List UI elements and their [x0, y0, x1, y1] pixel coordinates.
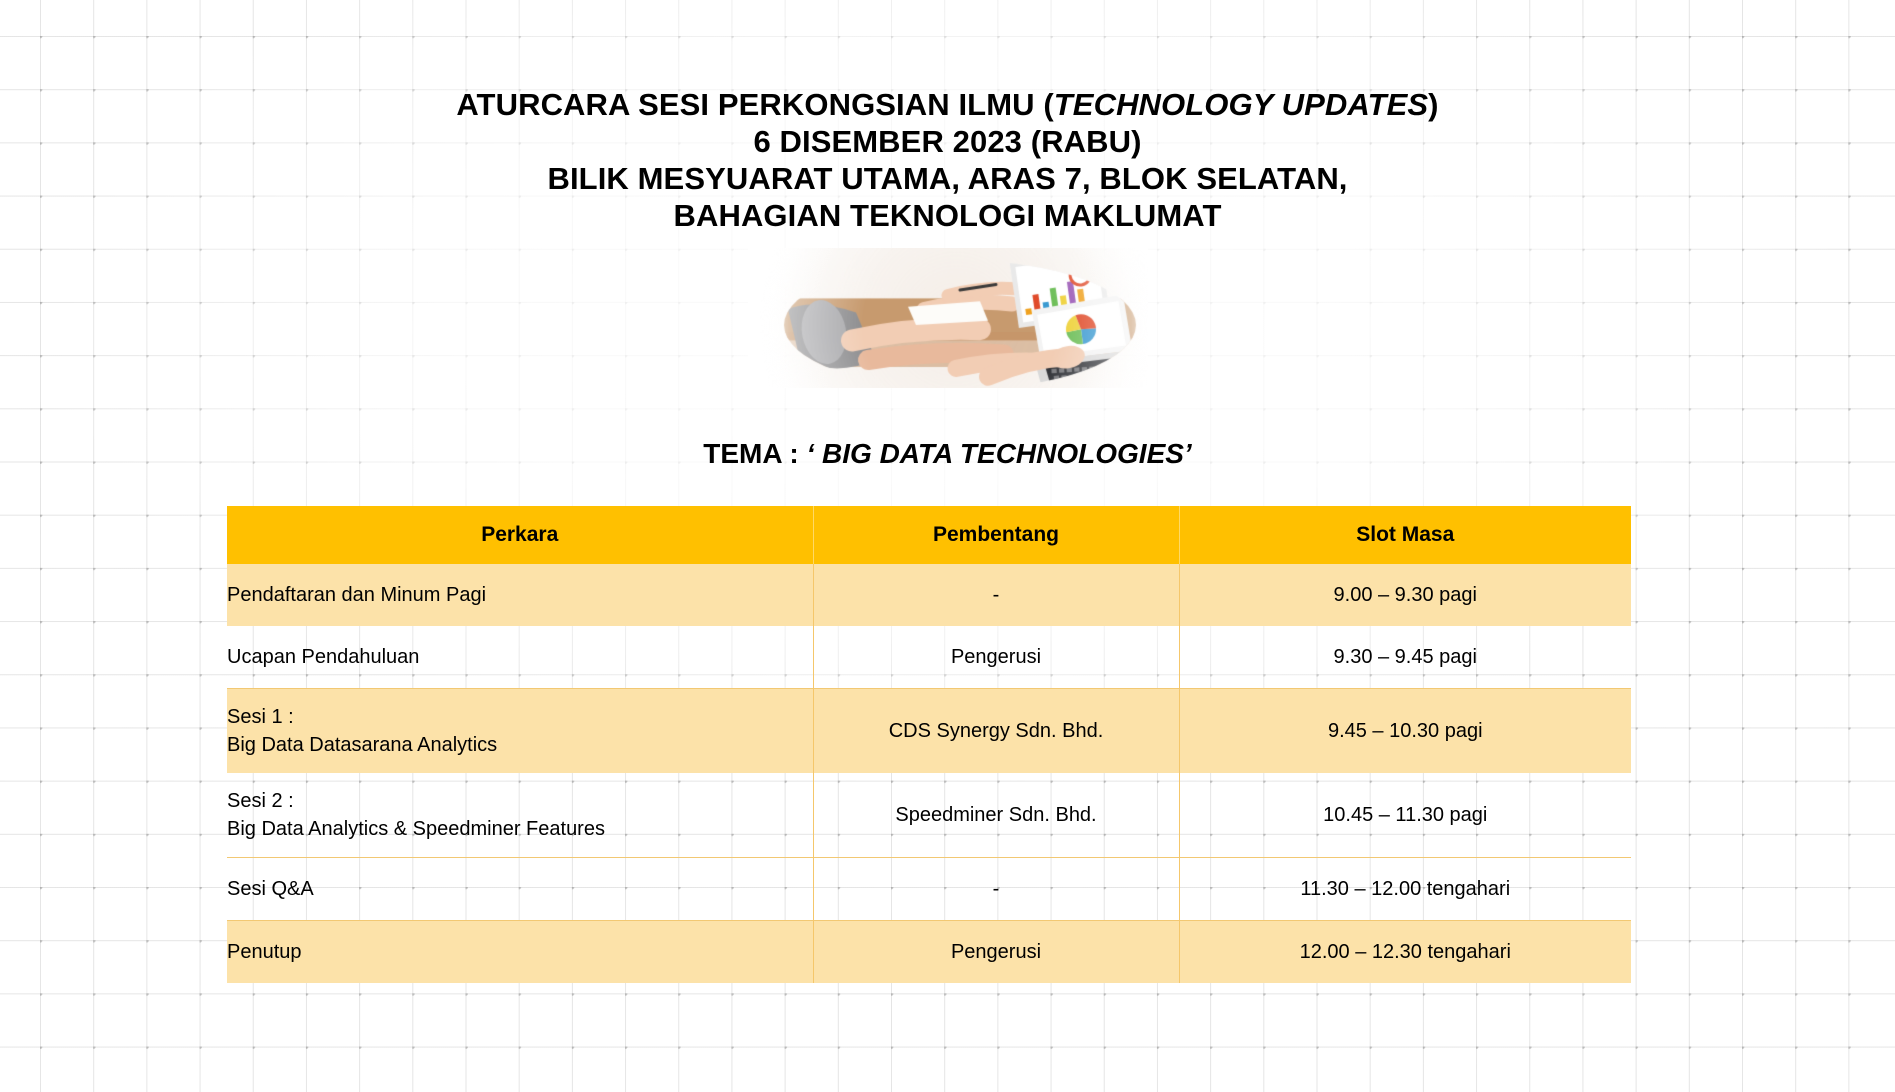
cell-pembentang: CDS Synergy Sdn. Bhd.: [813, 689, 1179, 774]
heading-line-1-plain-after: ): [1428, 87, 1438, 122]
cell-pembentang: -: [813, 564, 1179, 626]
agenda-table-header-row: Perkara Pembentang Slot Masa: [227, 506, 1631, 564]
cell-perkara: Penutup: [227, 921, 813, 984]
cell-slot-masa: 12.00 – 12.30 tengahari: [1179, 921, 1631, 984]
agenda-table-head: Perkara Pembentang Slot Masa: [227, 506, 1631, 564]
cell-pembentang: -: [813, 858, 1179, 921]
cell-perkara: Sesi Q&A: [227, 858, 813, 921]
cell-pembentang: Speedminer Sdn. Bhd.: [813, 773, 1179, 858]
document-page: ATURCARA SESI PERKONGSIAN ILMU (TECHNOLO…: [0, 0, 1895, 1092]
cell-slot-masa: 9.00 – 9.30 pagi: [1179, 564, 1631, 626]
heading-line-3: BILIK MESYUARAT UTAMA, ARAS 7, BLOK SELA…: [0, 160, 1895, 197]
cell-slot-masa: 11.30 – 12.00 tengahari: [1179, 858, 1631, 921]
cell-slot-masa: 9.30 – 9.45 pagi: [1179, 626, 1631, 689]
column-header-slot-masa: Slot Masa: [1179, 506, 1631, 564]
cell-perkara-line-1: Pendaftaran dan Minum Pagi: [227, 581, 813, 609]
cell-slot-masa: 9.45 – 10.30 pagi: [1179, 689, 1631, 774]
table-row: Pendaftaran dan Minum Pagi-9.00 – 9.30 p…: [227, 564, 1631, 626]
theme-value: ‘ BIG DATA TECHNOLOGIES’: [806, 438, 1191, 469]
column-header-pembentang: Pembentang: [813, 506, 1179, 564]
cell-perkara-line-1: Sesi Q&A: [227, 875, 813, 903]
heading-line-1: ATURCARA SESI PERKONGSIAN ILMU (TECHNOLO…: [0, 86, 1895, 123]
cell-perkara: Ucapan Pendahuluan: [227, 626, 813, 689]
document-heading-block: ATURCARA SESI PERKONGSIAN ILMU (TECHNOLO…: [0, 86, 1895, 234]
cell-perkara: Pendaftaran dan Minum Pagi: [227, 564, 813, 626]
theme-line: TEMA : ‘ BIG DATA TECHNOLOGIES’: [0, 438, 1895, 470]
column-header-perkara: Perkara: [227, 506, 813, 564]
table-row: Sesi 1 :Big Data Datasarana AnalyticsCDS…: [227, 689, 1631, 774]
decorative-photo-canvas: [748, 248, 1148, 388]
cell-perkara: Sesi 2 :Big Data Analytics & Speedminer …: [227, 773, 813, 858]
cell-perkara-line-1: Sesi 2 :: [227, 787, 813, 815]
theme-label: TEMA :: [703, 438, 806, 469]
table-row: Sesi 2 :Big Data Analytics & Speedminer …: [227, 773, 1631, 858]
table-row: Sesi Q&A-11.30 – 12.00 tengahari: [227, 858, 1631, 921]
heading-line-4: BAHAGIAN TEKNOLOGI MAKLUMAT: [0, 197, 1895, 234]
cell-perkara-line-2: Big Data Datasarana Analytics: [227, 731, 813, 759]
heading-line-1-italic: TECHNOLOGY UPDATES: [1054, 87, 1428, 122]
cell-perkara-line-1: Ucapan Pendahuluan: [227, 643, 813, 671]
heading-line-2: 6 DISEMBER 2023 (RABU): [0, 123, 1895, 160]
cell-slot-masa: 10.45 – 11.30 pagi: [1179, 773, 1631, 858]
table-row: Ucapan PendahuluanPengerusi9.30 – 9.45 p…: [227, 626, 1631, 689]
cell-pembentang: Pengerusi: [813, 921, 1179, 984]
table-row: PenutupPengerusi12.00 – 12.30 tengahari: [227, 921, 1631, 984]
cell-pembentang: Pengerusi: [813, 626, 1179, 689]
heading-line-1-plain-before: ATURCARA SESI PERKONGSIAN ILMU (: [456, 87, 1053, 122]
agenda-table-body: Pendaftaran dan Minum Pagi-9.00 – 9.30 p…: [227, 564, 1631, 983]
agenda-table: Perkara Pembentang Slot Masa Pendaftaran…: [227, 506, 1631, 983]
decorative-photo: [748, 248, 1148, 388]
cell-perkara-line-1: Sesi 1 :: [227, 703, 813, 731]
cell-perkara-line-2: Big Data Analytics & Speedminer Features: [227, 815, 813, 843]
cell-perkara-line-1: Penutup: [227, 938, 813, 966]
cell-perkara: Sesi 1 :Big Data Datasarana Analytics: [227, 689, 813, 774]
